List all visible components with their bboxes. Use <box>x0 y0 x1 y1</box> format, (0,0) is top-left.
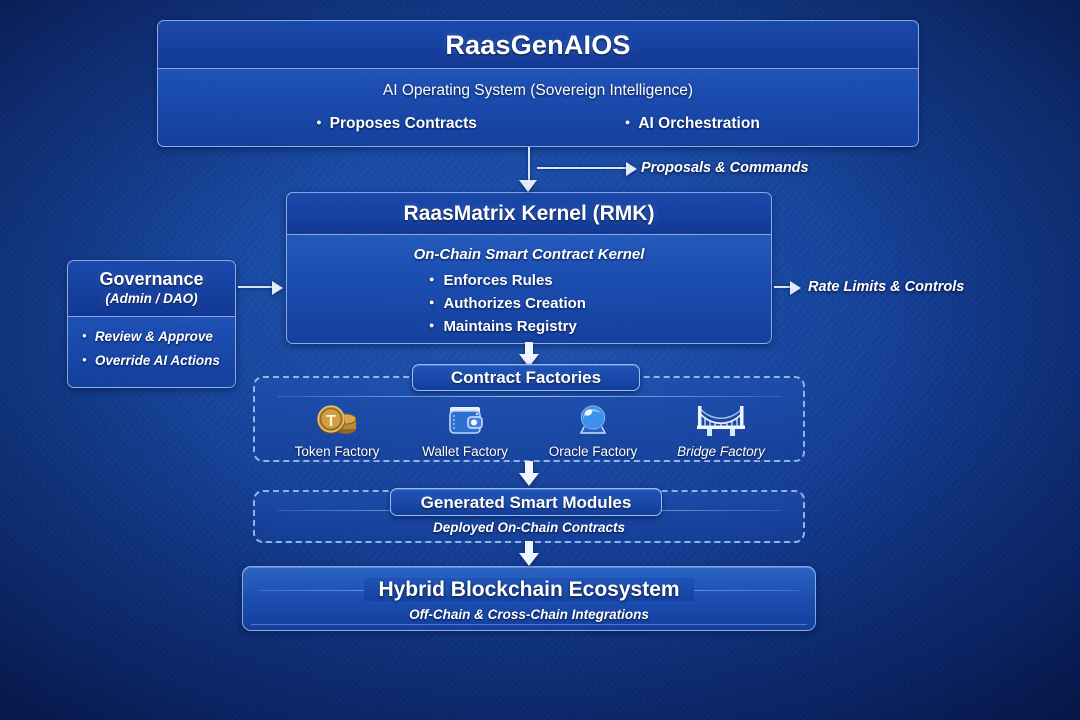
rmk-subtitle: On-Chain Smart Contract Kernel <box>287 246 771 263</box>
connector-line <box>238 286 274 288</box>
coin-stack-icon: T <box>315 402 359 438</box>
wallet-icon <box>443 402 487 438</box>
rmk-body: On-Chain Smart Contract Kernel Enforces … <box>287 246 771 335</box>
connector-line <box>537 167 627 169</box>
rmk-bullet-list: Enforces Rules Authorizes Creation Maint… <box>287 272 771 335</box>
arrow-down-icon <box>519 180 537 192</box>
factory-label-oracle: Oracle Factory <box>549 444 638 459</box>
node-hybrid-blockchain-ecosystem[interactable]: Hybrid Blockchain Ecosystem Off-Chain & … <box>242 566 816 631</box>
governance-bullet-1: Override AI Actions <box>82 353 235 368</box>
hybrid-subtitle: Off-Chain & Cross-Chain Integrations <box>243 607 815 622</box>
governance-bullet-0: Review & Approve <box>82 329 235 344</box>
factory-item-token[interactable]: T Token Factory <box>277 402 397 459</box>
suspension-bridge-icon <box>696 402 746 438</box>
factory-label-wallet: Wallet Factory <box>422 444 508 459</box>
arrow-right-icon <box>626 162 637 176</box>
crystal-ball-icon <box>571 402 615 438</box>
generated-modules-subtitle: Deployed On-Chain Contracts <box>255 520 803 535</box>
raasgenaios-bullet-0: Proposes Contracts <box>316 115 477 133</box>
rmk-bullet-0: Enforces Rules <box>429 272 629 289</box>
governance-header: Governance (Admin / DAO) <box>68 261 235 317</box>
divider <box>277 396 781 397</box>
arrow-right-icon <box>272 281 283 295</box>
rmk-bullet-1: Authorizes Creation <box>429 295 629 312</box>
edge-label-rate-limits: Rate Limits & Controls <box>808 279 964 295</box>
raasgenaios-bullet-1: AI Orchestration <box>625 115 760 133</box>
arrow-down-icon <box>518 461 540 487</box>
node-raasmatrix-kernel[interactable]: RaasMatrix Kernel (RMK) On-Chain Smart C… <box>286 192 772 344</box>
factory-item-bridge[interactable]: Bridge Factory <box>661 402 781 459</box>
arrow-down-icon <box>518 541 540 567</box>
factory-item-wallet[interactable]: Wallet Factory <box>405 402 525 459</box>
divider <box>251 624 807 625</box>
hybrid-title: Hybrid Blockchain Ecosystem <box>243 578 815 602</box>
raasgenaios-subtitle: AI Operating System (Sovereign Intellige… <box>158 82 918 100</box>
edge-label-proposals: Proposals & Commands <box>641 160 809 176</box>
generated-smart-modules-title[interactable]: Generated Smart Modules <box>390 488 662 516</box>
arrow-right-icon <box>790 281 801 295</box>
governance-bullet-list: Review & Approve Override AI Actions <box>68 317 235 368</box>
governance-subtitle: (Admin / DAO) <box>68 290 235 308</box>
contract-factory-list: T Token Factory <box>255 402 803 459</box>
diagram-canvas: RaasGenAIOS AI Operating System (Soverei… <box>0 0 1080 720</box>
governance-title: Governance <box>68 268 235 290</box>
raasgenaios-body: AI Operating System (Sovereign Intellige… <box>158 69 918 133</box>
factory-label-bridge: Bridge Factory <box>677 444 765 459</box>
svg-text:T: T <box>326 413 336 430</box>
factory-item-oracle[interactable]: Oracle Factory <box>533 402 653 459</box>
node-governance[interactable]: Governance (Admin / DAO) Review & Approv… <box>67 260 236 388</box>
node-raasgenaios[interactable]: RaasGenAIOS AI Operating System (Soverei… <box>157 20 919 147</box>
rmk-bullet-2: Maintains Registry <box>429 318 629 335</box>
raasgenaios-bullet-list: Proposes Contracts AI Orchestration <box>158 115 918 133</box>
raasgenaios-title: RaasGenAIOS <box>158 21 918 69</box>
rmk-title: RaasMatrix Kernel (RMK) <box>287 193 771 235</box>
contract-factories-title[interactable]: Contract Factories <box>412 364 640 391</box>
factory-label-token: Token Factory <box>295 444 380 459</box>
